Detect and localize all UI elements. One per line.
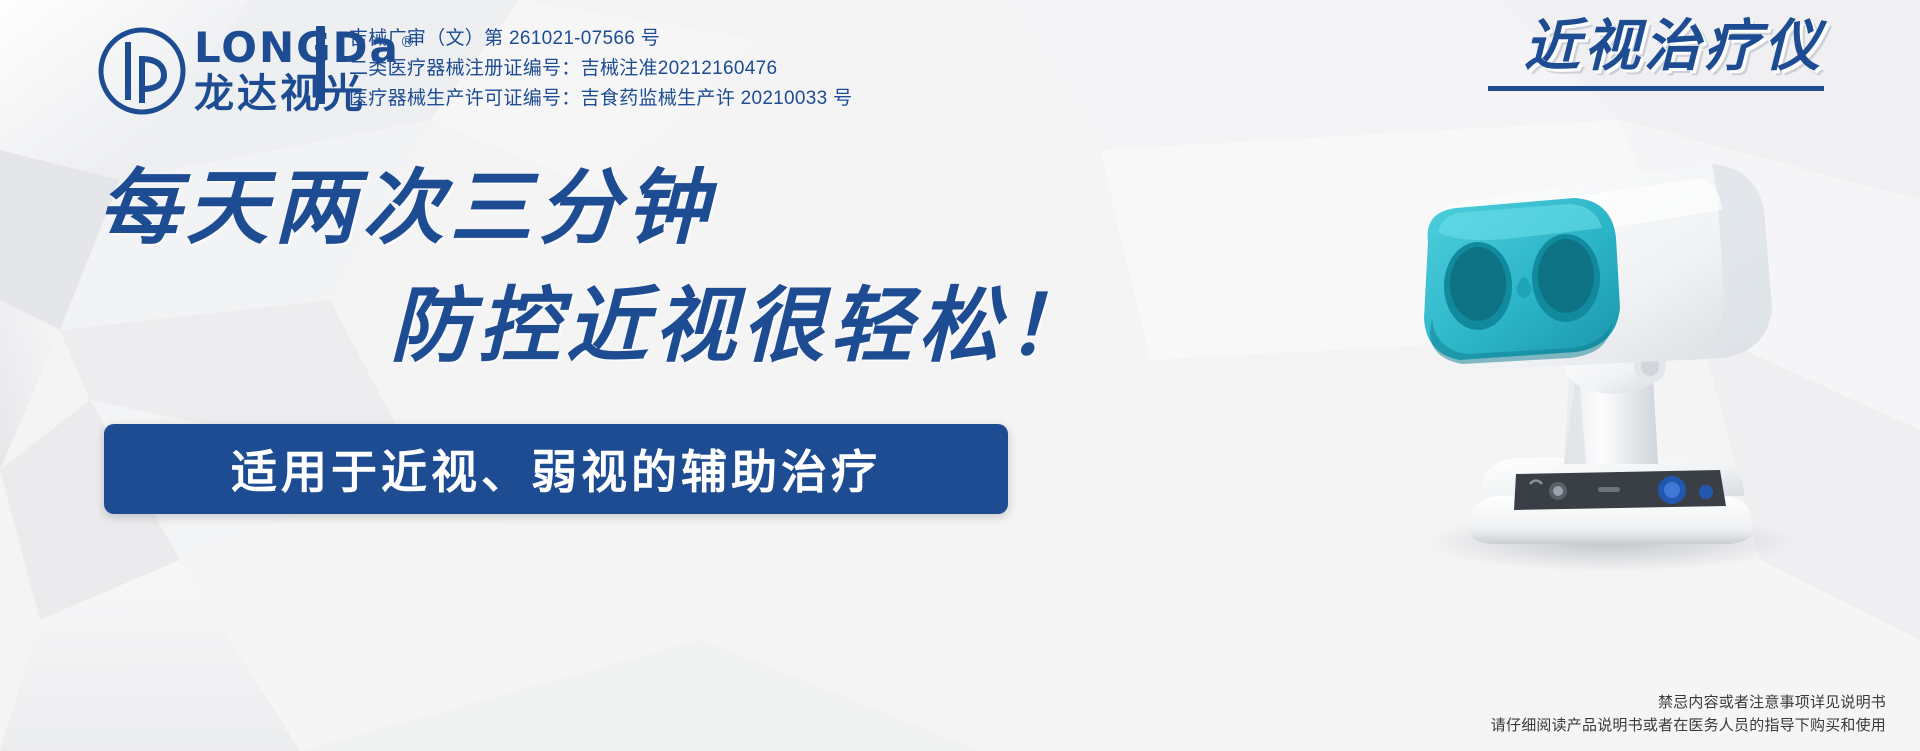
- cta-label: 适用于近视、弱视的辅助治疗: [231, 436, 881, 502]
- product-title: 近视治疗仪: [1488, 18, 1824, 91]
- disclaimer-block: 禁忌内容或者注意事项详见说明书 请仔细阅读产品说明书或者在医务人员的指导下购买和…: [1491, 691, 1886, 738]
- headline-line-2: 防控近视很轻松！: [390, 286, 1094, 368]
- disclaimer-line-2: 请仔细阅读产品说明书或者在医务人员的指导下购买和使用: [1491, 714, 1886, 737]
- certification-lines: 吉械广审（文）第 261021-07566 号 二类医疗器械注册证编号：吉械注准…: [349, 26, 852, 113]
- certification-line-3: 医疗器械生产许可证编号：吉食药监械生产许 20210033 号: [349, 86, 852, 113]
- product-title-underline: [1488, 86, 1824, 91]
- headline-line-1: 每天两次三分钟: [98, 168, 714, 250]
- advertisement-banner: LONGDa® 龙达视光 吉械广审（文）第 261021-07566 号 二类医…: [0, 0, 1920, 751]
- certification-divider: [316, 26, 325, 104]
- certification-block: 吉械广审（文）第 261021-07566 号 二类医疗器械注册证编号：吉械注准…: [316, 26, 852, 113]
- certification-line-2: 二类医疗器械注册证编号：吉械注准20212160476: [349, 56, 852, 83]
- product-title-text: 近视治疗仪: [1488, 18, 1824, 74]
- disclaimer-line-1: 禁忌内容或者注意事项详见说明书: [1491, 691, 1886, 714]
- product-image: [1320, 92, 1880, 592]
- cta-banner[interactable]: 适用于近视、弱视的辅助治疗: [104, 424, 1008, 514]
- longda-circle-logo-icon: [96, 25, 188, 117]
- certification-line-1: 吉械广审（文）第 261021-07566 号: [349, 26, 852, 53]
